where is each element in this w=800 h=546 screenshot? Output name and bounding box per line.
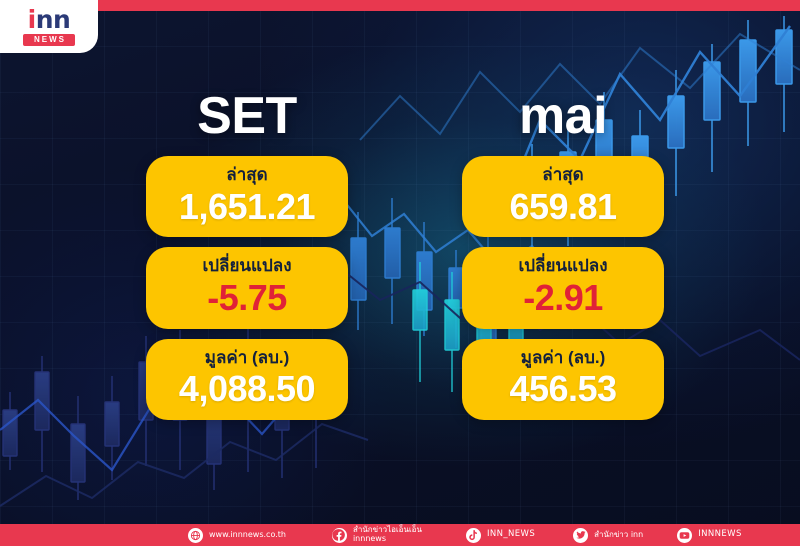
set-change-value: -5.75 bbox=[154, 278, 340, 318]
set-last-value: 1,651.21 bbox=[154, 187, 340, 227]
background-candlestick-chart bbox=[0, 0, 800, 546]
mai-value-amount: 456.53 bbox=[470, 369, 656, 409]
social-footer-bar: www.innnews.co.th สำนักข่าวไอเอ็นเอ็น in… bbox=[0, 524, 800, 546]
set-title: SET bbox=[197, 90, 297, 142]
top-accent-bar bbox=[0, 0, 800, 11]
logo-dot-letter: i bbox=[28, 5, 36, 34]
tiktok-link[interactable]: INN_NEWS bbox=[466, 528, 535, 543]
mai-title: mai bbox=[519, 90, 607, 142]
twitter-label: สำนักข่าว inn bbox=[594, 530, 643, 539]
set-index-column: SET ล่าสุด 1,651.21 เปลี่ยนแปลง -5.75 มู… bbox=[140, 90, 354, 430]
mai-last-label: ล่าสุด bbox=[470, 164, 656, 187]
logo-news-badge: NEWS bbox=[23, 34, 75, 46]
stock-summary-graphic: inn NEWS SET ล่าสุด 1,651.21 เปลี่ยนแปลง… bbox=[0, 0, 800, 546]
mai-value-label: มูลค่า (ลบ.) bbox=[470, 347, 656, 370]
website-label: www.innnews.co.th bbox=[209, 530, 286, 539]
set-last-card: ล่าสุด 1,651.21 bbox=[146, 156, 348, 237]
logo-wordmark: inn bbox=[28, 7, 71, 32]
tiktok-icon bbox=[466, 528, 481, 543]
set-value-amount: 4,088.50 bbox=[154, 369, 340, 409]
facebook-label: สำนักข่าวไอเอ็นเอ็น innnews bbox=[353, 526, 422, 544]
inn-news-logo: inn NEWS bbox=[0, 0, 98, 53]
mai-last-card: ล่าสุด 659.81 bbox=[462, 156, 664, 237]
mai-value-card: มูลค่า (ลบ.) 456.53 bbox=[462, 339, 664, 420]
twitter-icon bbox=[573, 528, 588, 543]
youtube-link[interactable]: INNNEWS bbox=[677, 528, 742, 543]
twitter-link[interactable]: สำนักข่าว inn bbox=[573, 528, 643, 543]
mai-index-column: mai ล่าสุด 659.81 เปลี่ยนแปลง -2.91 มูลค… bbox=[456, 90, 670, 430]
facebook-link[interactable]: สำนักข่าวไอเอ็นเอ็น innnews bbox=[332, 526, 422, 544]
set-change-label: เปลี่ยนแปลง bbox=[154, 255, 340, 278]
tiktok-label: INN_NEWS bbox=[487, 530, 535, 540]
mai-change-card: เปลี่ยนแปลง -2.91 bbox=[462, 247, 664, 328]
set-value-label: มูลค่า (ลบ.) bbox=[154, 347, 340, 370]
website-link[interactable]: www.innnews.co.th bbox=[188, 528, 286, 543]
set-change-card: เปลี่ยนแปลง -5.75 bbox=[146, 247, 348, 328]
logo-nn-letters: nn bbox=[36, 5, 71, 34]
facebook-label-line1: สำนักข่าวไอเอ็นเอ็น bbox=[353, 525, 422, 534]
facebook-icon bbox=[332, 528, 347, 543]
mai-change-value: -2.91 bbox=[470, 278, 656, 318]
youtube-label: INNNEWS bbox=[698, 530, 742, 540]
youtube-icon bbox=[677, 528, 692, 543]
set-value-card: มูลค่า (ลบ.) 4,088.50 bbox=[146, 339, 348, 420]
mai-change-label: เปลี่ยนแปลง bbox=[470, 255, 656, 278]
facebook-label-line2: innnews bbox=[353, 534, 386, 543]
set-last-label: ล่าสุด bbox=[154, 164, 340, 187]
globe-icon bbox=[188, 528, 203, 543]
mai-last-value: 659.81 bbox=[470, 187, 656, 227]
